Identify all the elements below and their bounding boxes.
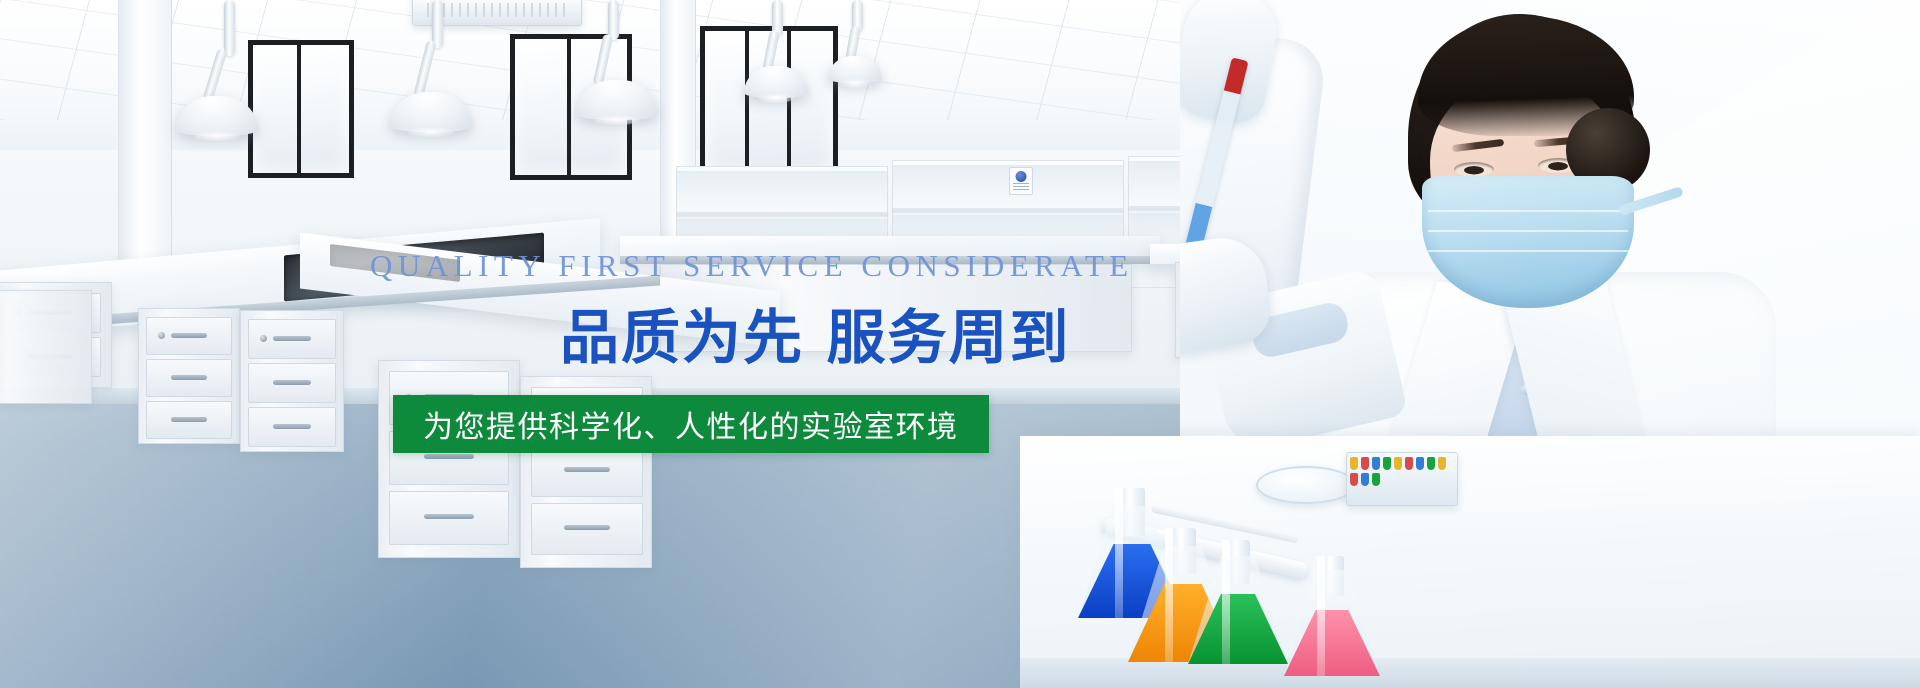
foreground-bench-edge bbox=[1020, 658, 1920, 688]
extraction-arm-3 bbox=[572, 0, 702, 150]
hero-banner: QUALITY FIRST SERVICE CONSIDERATE 品质为先 服… bbox=[0, 0, 1920, 688]
drawer-cabinet-b bbox=[138, 308, 240, 444]
pipette-tip bbox=[1383, 457, 1391, 470]
back-bench-edge bbox=[620, 256, 1160, 264]
drawer[interactable] bbox=[146, 359, 232, 397]
pipette-tip bbox=[1394, 457, 1402, 470]
back-bench-top bbox=[620, 236, 1160, 258]
drawer[interactable] bbox=[146, 401, 232, 439]
extraction-arm-5 bbox=[828, 0, 938, 120]
drawer[interactable] bbox=[248, 363, 336, 403]
dome-lamp-4 bbox=[744, 66, 808, 98]
pipette-tip-rack bbox=[1346, 452, 1458, 506]
pipette-tip bbox=[1438, 457, 1446, 470]
pipette-tip bbox=[1350, 457, 1358, 470]
drawer[interactable] bbox=[531, 387, 643, 439]
pipette-tip bbox=[1372, 473, 1380, 486]
extraction-arm-2 bbox=[398, 0, 528, 150]
petri-dish bbox=[1256, 466, 1356, 504]
eye-left bbox=[1454, 162, 1494, 177]
dome-lamp-5 bbox=[828, 56, 882, 83]
drawer[interactable] bbox=[531, 445, 643, 497]
drawer[interactable] bbox=[146, 317, 232, 355]
drawer[interactable] bbox=[248, 407, 336, 447]
pipette-tip bbox=[1405, 457, 1413, 470]
drawer-cabinet-e bbox=[520, 376, 652, 568]
pipette-tip bbox=[1350, 473, 1358, 486]
erlenmeyer-flask-green bbox=[1188, 540, 1288, 664]
pipette-tip bbox=[1361, 457, 1369, 470]
drawer[interactable] bbox=[248, 319, 336, 359]
pipette-tip bbox=[1416, 457, 1424, 470]
safety-label-icon bbox=[1009, 167, 1033, 195]
beaker-pink bbox=[1284, 556, 1380, 676]
dome-lamp-3 bbox=[576, 80, 658, 120]
lower-left-cabinet bbox=[0, 290, 92, 404]
drawer[interactable] bbox=[531, 503, 643, 555]
drawer[interactable] bbox=[389, 491, 509, 545]
pipette-tip bbox=[1361, 473, 1369, 486]
pipette-tip bbox=[1372, 457, 1380, 470]
drawer-cabinet-c bbox=[240, 310, 344, 452]
pipette-tip bbox=[1427, 457, 1435, 470]
dome-lamp-2 bbox=[390, 92, 472, 132]
structural-pillar-left bbox=[118, 0, 172, 300]
drawer[interactable] bbox=[389, 431, 509, 485]
extraction-arm-1 bbox=[196, 0, 326, 150]
drawer[interactable] bbox=[389, 371, 509, 425]
drawer-cabinet-d bbox=[378, 360, 520, 558]
